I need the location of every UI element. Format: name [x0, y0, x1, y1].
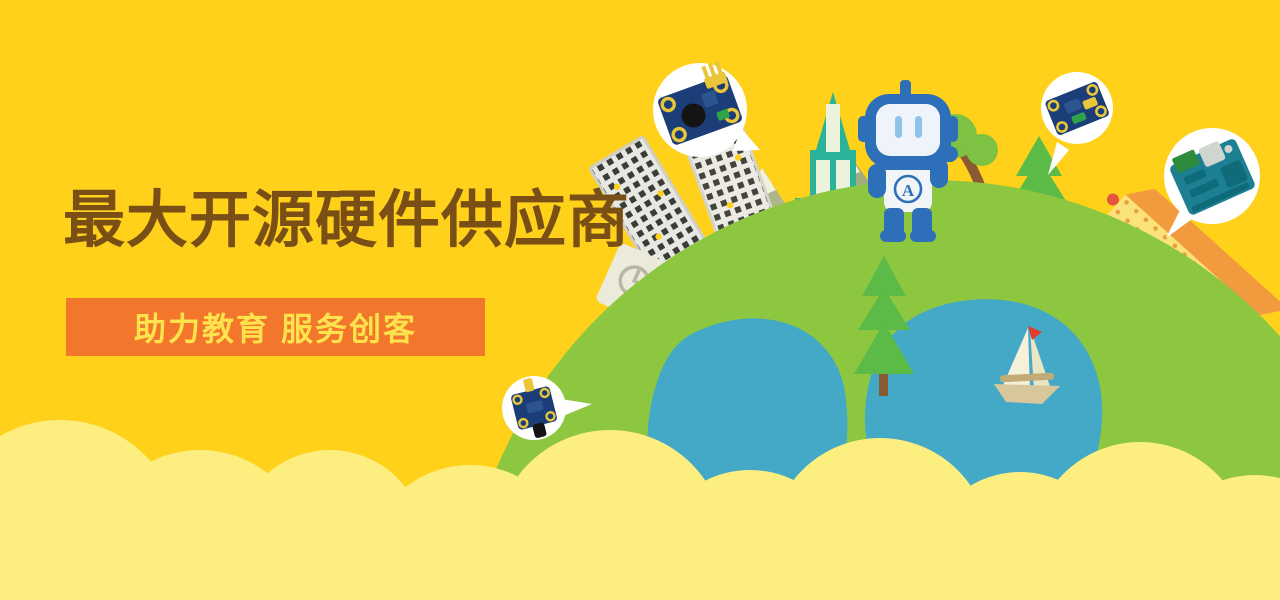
- banner-illustration: A: [0, 0, 1280, 600]
- svg-text:A: A: [902, 181, 915, 200]
- hero-banner: A: [0, 0, 1280, 600]
